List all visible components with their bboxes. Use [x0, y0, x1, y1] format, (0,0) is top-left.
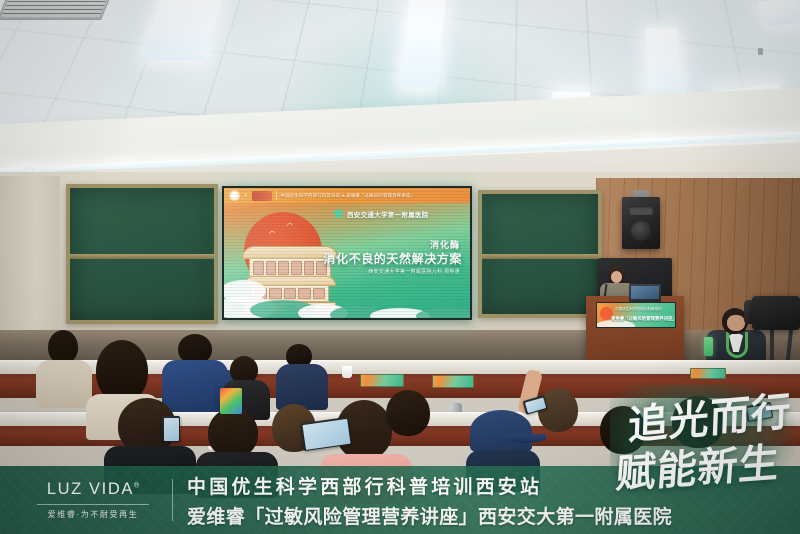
screen-top-bar-text: 中国优生科学西部行科普培训 & 爱维睿「过敏风险管理营养讲座」	[281, 193, 416, 199]
sprinkler-head	[758, 48, 763, 55]
brand-divider-rule	[37, 504, 149, 505]
desk-name-card	[360, 374, 404, 387]
speaker-horn	[629, 206, 653, 215]
podium-sign-line1: 中国优生科学西部行科普培训	[615, 307, 662, 312]
bird-icon: ︿	[286, 220, 294, 228]
brand-tagline: 爱维睿·为不耐受再生	[48, 509, 139, 520]
slide-byline: 西安交通大学第一附属医院儿科 周熙惠	[368, 268, 460, 275]
registered-trademark-icon: ®	[134, 483, 139, 490]
phone-screen	[164, 418, 179, 441]
presenter-face	[611, 271, 622, 283]
conference-photo-scene: × 中国优生科学西部行科普培训 & 爱维睿「过敏风险管理营养讲座」 ︿ ︿ ︿	[0, 0, 800, 534]
audience-head	[208, 408, 258, 458]
hospital-logo-text: 西安交通大学第一附属医院	[347, 209, 429, 219]
event-banner: LUZ VIDA® 爱维睿·为不耐受再生 中国优生科学西部行科普培训西安站 爱维…	[0, 466, 800, 534]
podium-sign-line2: 爱维睿「过敏风险管理营养讲座」	[611, 316, 676, 322]
cap-brim	[506, 434, 546, 443]
video-camera-icon	[752, 296, 800, 330]
desk-name-card	[690, 368, 726, 379]
phone-on-stand	[704, 337, 713, 356]
phone-screen	[747, 404, 772, 421]
slide-title-large: 消化不良的天然解决方案	[323, 250, 462, 267]
baseball-cap-icon	[470, 410, 532, 452]
audience-head	[386, 390, 430, 436]
banner-separator	[172, 479, 173, 521]
chalkboard-divider-rail	[482, 254, 598, 259]
speaker-driver	[631, 221, 651, 241]
brand-lockup: LUZ VIDA® 爱维睿·为不耐受再生	[28, 480, 158, 520]
chalkboard-right	[478, 190, 602, 318]
partner-logo-icon	[252, 191, 272, 201]
brand-name: LUZ VIDA®	[47, 480, 139, 499]
wave-icon	[222, 266, 370, 320]
audience-head	[672, 396, 724, 448]
hospital-logo: 西安交通大学第一附属医院	[332, 207, 429, 220]
seated-man-face	[727, 315, 745, 331]
banner-line1: 中国优生科学西部行科普培训西安站	[187, 472, 672, 499]
wave-crest	[416, 308, 472, 320]
chalkboard-left	[66, 184, 218, 324]
banner-text-block: 中国优生科学西部行科普培训西安站 爱维睿「过敏风险管理营养讲座」西安交大第一附属…	[187, 472, 672, 529]
colorful-desk-item	[220, 388, 242, 414]
collab-x-icon: ×	[244, 193, 248, 199]
presenter-laptop	[629, 284, 661, 304]
audience-head	[96, 340, 148, 402]
brand-name-text: LUZ VIDA	[47, 480, 134, 498]
audience-head	[48, 330, 78, 364]
banner-line2: 爱维睿「过敏风险管理营养讲座」西安交大第一附属医院	[187, 502, 672, 529]
podium-sign: 中国优生科学西部行科普培训 爱维睿「过敏风险管理营养讲座」	[596, 302, 676, 328]
screen-top-bar: × 中国优生科学西部行科普培训 & 爱维睿「过敏风险管理营养讲座」	[224, 188, 470, 203]
hospital-mark-icon	[332, 207, 345, 220]
led-presentation-screen: × 中国优生科学西部行科普培训 & 爱维睿「过敏风险管理营养讲座」 ︿ ︿ ︿	[222, 186, 472, 320]
air-vent	[0, 0, 115, 20]
green-lanyard	[726, 332, 748, 358]
chalkboard-divider-rail	[70, 254, 214, 259]
divider	[276, 191, 277, 200]
audience-torso	[36, 360, 92, 408]
audience-head	[538, 388, 578, 432]
organizer-logo-icon	[229, 190, 240, 201]
smartphone-icon	[162, 416, 180, 442]
audience-torso	[276, 364, 328, 410]
paper-cup	[342, 366, 352, 378]
audience-head	[600, 406, 646, 454]
wall-speaker-icon	[622, 197, 660, 249]
desk-name-card	[432, 375, 474, 388]
phone-screen	[302, 418, 350, 449]
